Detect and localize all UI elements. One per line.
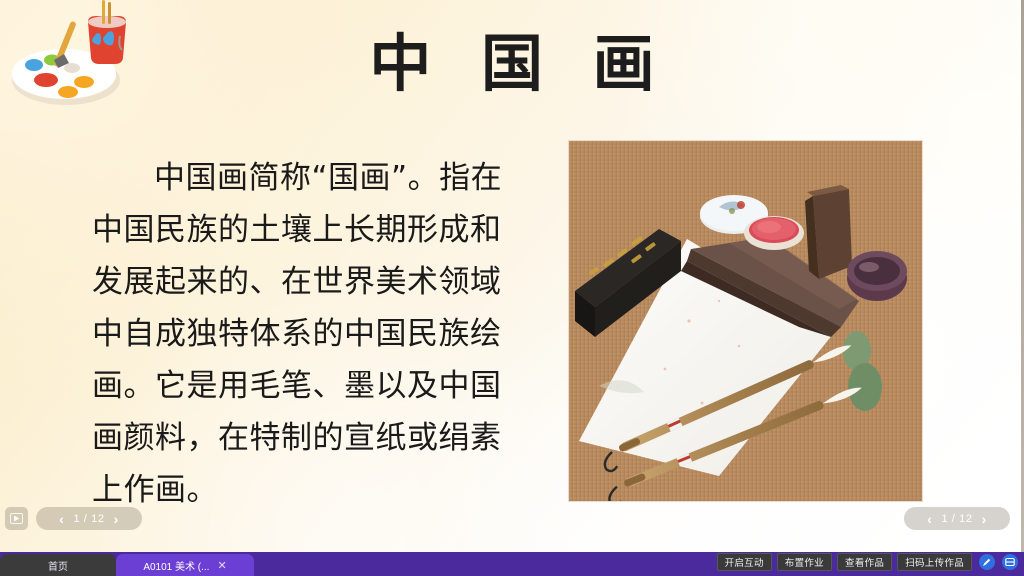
slide-canvas: 中 国 画 中国画简称“国画”。指在中国民族的土壤上长期形成和发展起来的、在世界… [0, 0, 1024, 552]
play-expand-icon [10, 513, 23, 524]
slide-nav-left: ‹ 1 / 12 › [5, 507, 142, 530]
taskbar-tab-list: 首页 A0101 美术 (... ✕ [0, 552, 254, 576]
chevron-left-icon[interactable]: ‹ [927, 512, 932, 526]
chevron-right-icon[interactable]: › [114, 512, 119, 526]
sidebar-expand-button[interactable] [5, 507, 28, 530]
close-icon[interactable]: ✕ [217, 559, 226, 572]
chevron-right-icon[interactable]: › [982, 512, 987, 526]
slide-nav-right: ‹ 1 / 12 › [904, 507, 1010, 530]
presentation-screen: 中 国 画 中国画简称“国画”。指在中国民族的土壤上长期形成和发展起来的、在世界… [0, 0, 1024, 576]
taskbar-tab-courseware-label: A0101 美术 (... [143, 558, 209, 573]
assign-homework-button[interactable]: 布置作业 [777, 553, 832, 571]
page-title: 中 国 画 [0, 27, 1024, 101]
page-nav-right[interactable]: ‹ 1 / 12 › [904, 507, 1010, 530]
pen-annotate-icon[interactable] [979, 554, 995, 570]
start-interaction-button[interactable]: 开启互动 [717, 553, 772, 571]
chevron-left-icon[interactable]: ‹ [59, 512, 64, 526]
page-indicator-left: 1 / 12 [73, 513, 104, 525]
page-indicator-right: 1 / 12 [941, 513, 972, 525]
taskbar: 首页 A0101 美术 (... ✕ 开启互动 布置作业 查看作品 扫码上传作品 [0, 552, 1024, 576]
taskbar-tab-home-label: 首页 [48, 558, 68, 573]
scan-upload-works-button[interactable]: 扫码上传作品 [897, 553, 972, 571]
calligraphy-tools-photo [568, 140, 923, 502]
taskbar-tab-courseware[interactable]: A0101 美术 (... ✕ [116, 554, 254, 576]
slide-body-text: 中国画简称“国画”。指在中国民族的土壤上长期形成和发展起来的、在世界美术领域中自… [92, 152, 512, 516]
view-works-button[interactable]: 查看作品 [837, 553, 892, 571]
taskbar-tab-home[interactable]: 首页 [0, 554, 116, 576]
page-nav-left[interactable]: ‹ 1 / 12 › [36, 507, 142, 530]
taskbar-action-group: 开启互动 布置作业 查看作品 扫码上传作品 [717, 550, 1024, 576]
toolbox-icon[interactable] [1002, 554, 1018, 570]
